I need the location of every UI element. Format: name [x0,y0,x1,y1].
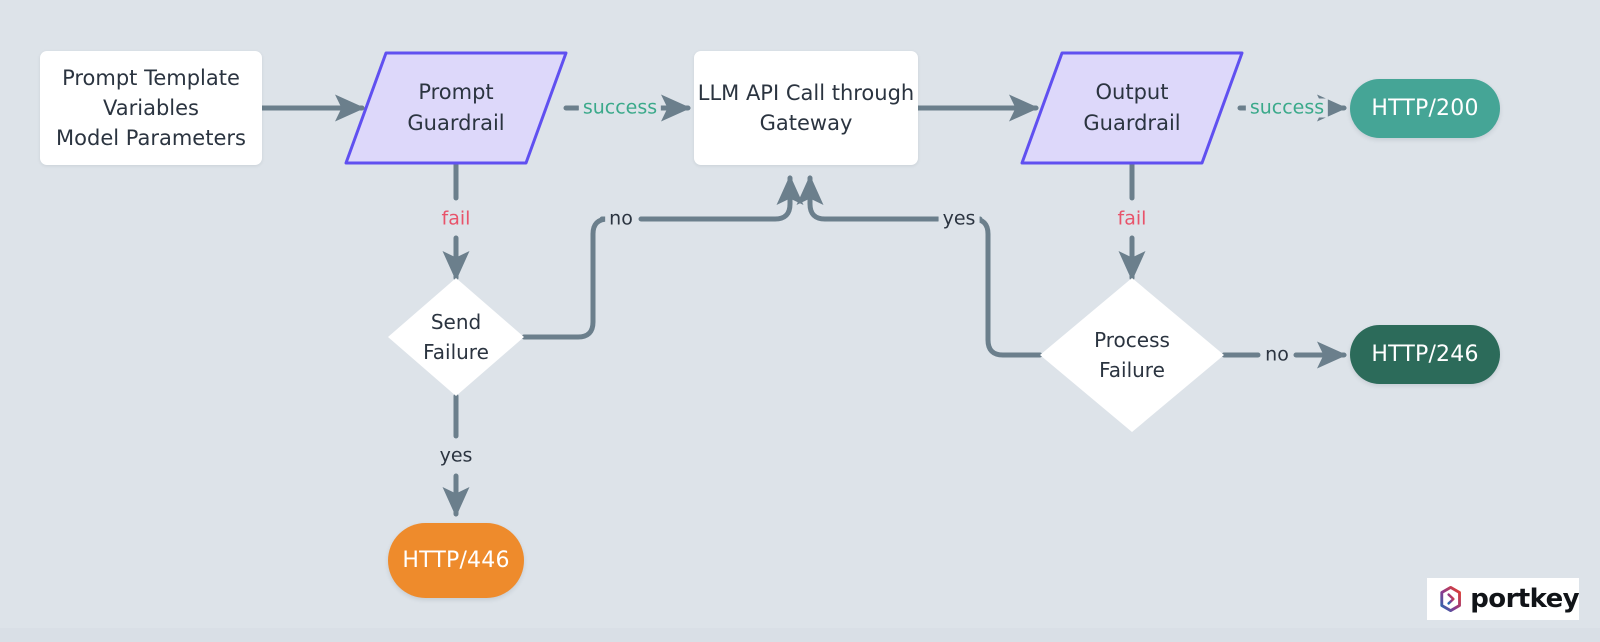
node-http-446[interactable]: HTTP/446 [388,523,524,598]
node-http-200-label: HTTP/200 [1371,96,1478,121]
edge-process-failure-yes-a [973,219,1040,355]
portkey-hexagon-chevron-icon [1437,584,1464,614]
portkey-wordmark: portkey [1470,584,1579,614]
edge-label-success-output: success [1246,99,1328,118]
node-input-line-3: Model Parameters [56,123,246,153]
node-process-failure[interactable]: Process Failure [1040,278,1224,432]
node-prompt-guardrail-line-2: Guardrail [407,108,504,139]
edge-label-fail-prompt: fail [438,210,475,229]
edge-label-fail-output: fail [1114,210,1151,229]
node-http-246-label: HTTP/246 [1371,342,1478,367]
edge-label-success-prompt: success [579,99,661,118]
node-output-guardrail-line-1: Output [1096,77,1169,108]
node-process-failure-line-2: Failure [1099,355,1165,385]
node-input[interactable]: Prompt Template Variables Model Paramete… [40,51,262,165]
bottom-strip [0,628,1600,642]
portkey-logo: portkey [1427,578,1579,620]
node-output-guardrail-line-2: Guardrail [1083,108,1180,139]
node-send-failure[interactable]: Send Failure [388,278,524,396]
node-http-446-label: HTTP/446 [402,548,509,573]
edge-send-failure-no-a [524,219,608,337]
node-prompt-guardrail[interactable]: Prompt Guardrail [344,51,568,165]
flowchart-canvas: success success fail fail no yes yes no … [0,0,1600,642]
node-input-line-1: Prompt Template [62,63,240,93]
node-output-guardrail[interactable]: Output Guardrail [1020,51,1244,165]
node-http-246[interactable]: HTTP/246 [1350,325,1500,384]
node-prompt-guardrail-line-1: Prompt [418,77,493,108]
node-llm-api-call-line-1: LLM API Call through [698,78,914,108]
node-http-200[interactable]: HTTP/200 [1350,79,1500,138]
edge-send-failure-no-b [641,178,790,219]
node-llm-api-call-line-2: Gateway [760,108,853,138]
edge-label-no-send-failure: no [605,210,637,229]
node-process-failure-line-1: Process [1094,325,1170,355]
edge-label-yes-process-failure: yes [939,210,980,229]
node-input-line-2: Variables [103,93,199,123]
edge-label-yes-send-failure: yes [436,447,477,466]
node-send-failure-line-1: Send [431,307,481,337]
node-llm-api-call[interactable]: LLM API Call through Gateway [694,51,918,165]
node-send-failure-line-2: Failure [423,337,489,367]
edge-label-no-process-failure: no [1261,346,1293,365]
edge-process-failure-yes-b [810,178,938,219]
